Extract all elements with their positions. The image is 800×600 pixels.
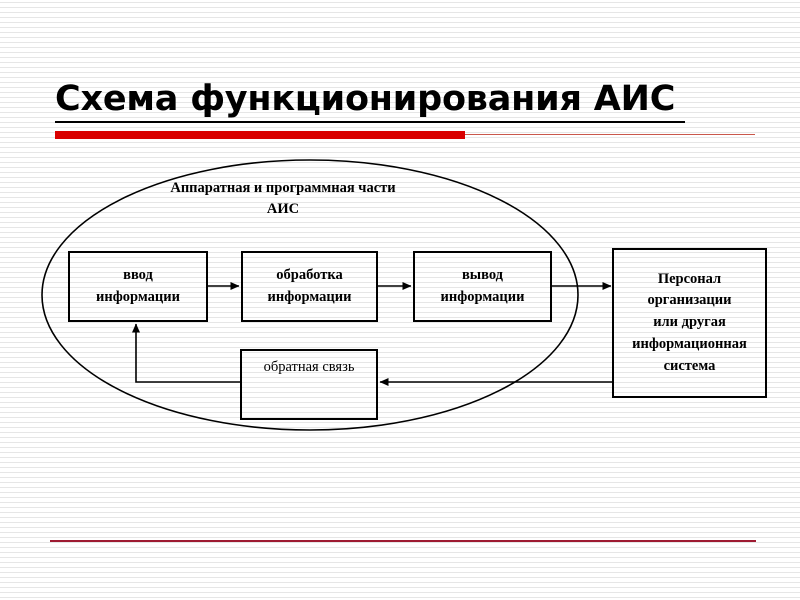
node-output[interactable]: вывод информации (413, 251, 552, 322)
node-output-label-line2: информации (441, 287, 525, 308)
node-feedback-label: обратная связь (264, 357, 355, 378)
system-boundary-label-line2: АИС (138, 199, 428, 220)
node-process-label-line1: обработка (268, 265, 352, 286)
node-process-label-line2: информации (268, 287, 352, 308)
node-personnel-label-line2: организации (632, 290, 747, 312)
node-personnel-label-line5: система (632, 356, 747, 378)
node-input[interactable]: ввод информации (68, 251, 208, 322)
node-personnel-label-line3: или другая (632, 312, 747, 334)
node-personnel[interactable]: Персонал организации или другая информац… (612, 248, 767, 398)
node-personnel-label-line1: Персонал (632, 269, 747, 291)
footer-accent-rule (50, 540, 756, 542)
node-input-label-line2: информации (96, 287, 180, 308)
node-output-label-line1: вывод (441, 265, 525, 286)
node-input-label-line1: ввод (96, 265, 180, 286)
system-boundary-label: Аппаратная и программная части АИС (138, 178, 428, 220)
system-boundary-label-line1: Аппаратная и программная части (138, 178, 428, 199)
node-process[interactable]: обработка информации (241, 251, 378, 322)
node-personnel-label-line4: информационная (632, 334, 747, 356)
edge-feedback-to-input (136, 324, 240, 382)
node-feedback[interactable]: обратная связь (240, 349, 378, 420)
slide-canvas: Схема функционирования АИС (0, 0, 800, 600)
